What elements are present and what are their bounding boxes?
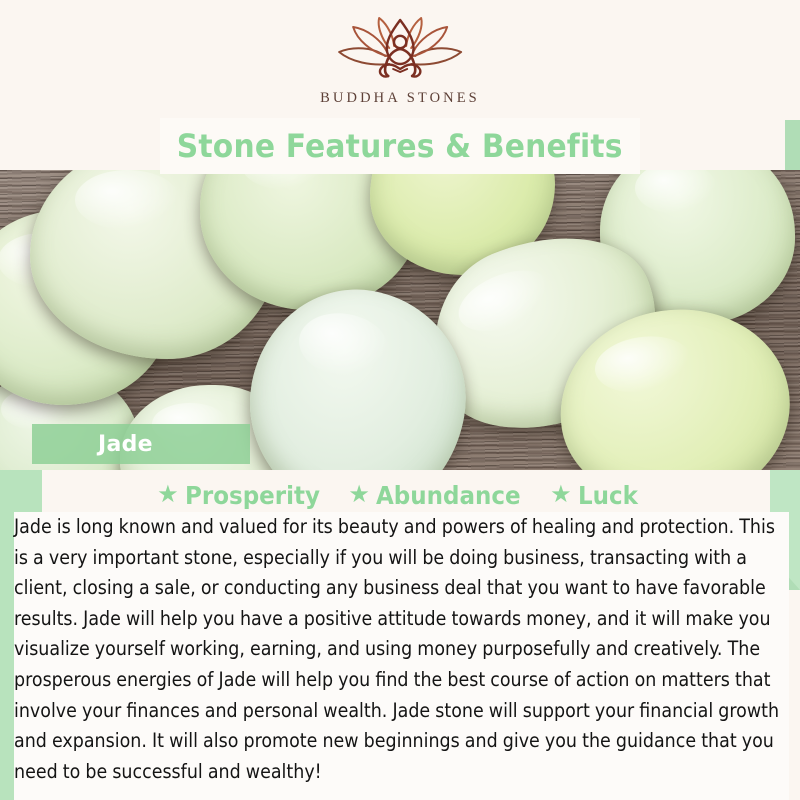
lotus-meditation-icon bbox=[327, 16, 473, 84]
star-icon: ★ bbox=[157, 483, 179, 507]
title-banner: Stone Features & Benefits bbox=[160, 118, 640, 174]
star-icon: ★ bbox=[550, 483, 572, 507]
benefit-label: Abundance bbox=[376, 481, 521, 510]
benefit-item-abundance: ★ Abundance bbox=[348, 481, 533, 510]
page-title: Stone Features & Benefits bbox=[177, 127, 623, 165]
benefit-item-prosperity: ★ Prosperity bbox=[157, 481, 331, 510]
description-panel: Jade is long known and valued for its be… bbox=[14, 512, 789, 800]
stone-name-label: Jade bbox=[98, 432, 153, 457]
stone-name-tag: Jade bbox=[32, 424, 250, 464]
brand-header: BUDDHA STONES bbox=[0, 0, 800, 120]
description-text: Jade is long known and valued for its be… bbox=[14, 512, 788, 787]
star-icon: ★ bbox=[348, 483, 370, 507]
benefit-item-luck: ★ Luck bbox=[550, 481, 643, 510]
benefits-row: ★ Prosperity ★ Abundance ★ Luck bbox=[0, 478, 800, 512]
infographic-card: BUDDHA STONES Stone Features & Benefits … bbox=[0, 0, 800, 800]
brand-logo: BUDDHA STONES bbox=[320, 16, 480, 107]
benefit-label: Luck bbox=[578, 481, 638, 510]
benefit-label: Prosperity bbox=[185, 481, 320, 510]
brand-name: BUDDHA STONES bbox=[320, 90, 480, 107]
